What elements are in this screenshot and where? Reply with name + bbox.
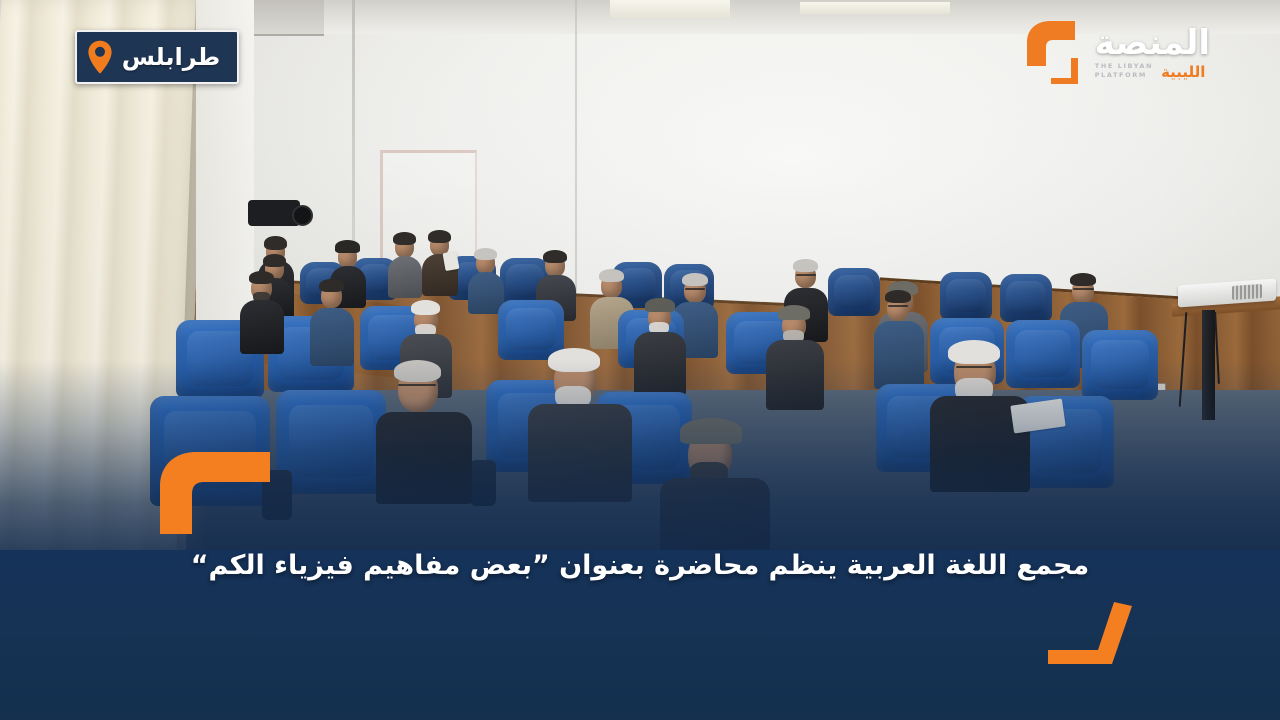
projector-stand-pole	[1202, 310, 1215, 420]
hair	[682, 273, 708, 286]
ceiling-light	[610, 0, 730, 18]
chair-armrest	[470, 460, 496, 506]
flat-cap	[645, 298, 675, 312]
logo-latin-line1: THE LIBYAN	[1095, 62, 1153, 70]
logo-arabic-main: المنصة	[1095, 26, 1210, 60]
orange-bracket-small-icon	[1048, 602, 1138, 664]
logo-hook-mark	[1023, 18, 1089, 88]
hair	[1070, 273, 1096, 286]
logo-latin-line2: PLATFORM	[1095, 71, 1147, 79]
glasses-icon	[888, 305, 908, 307]
logo-wordmark: المنصة الليبية THE LIBYAN PLATFORM	[1095, 26, 1210, 81]
headline-text: مجمع اللغة العربية ينظم محاضرة بعنوان ”ب…	[0, 548, 1280, 584]
attendee	[310, 278, 354, 364]
attendee-front	[528, 348, 632, 498]
hair	[793, 259, 818, 272]
attendee	[240, 268, 284, 352]
attendee-front	[930, 340, 1030, 490]
logo-arabic-sub: الليبية	[1161, 65, 1205, 81]
hair	[885, 290, 911, 303]
torso	[766, 340, 824, 410]
glasses-icon	[796, 274, 816, 276]
attendee	[422, 230, 458, 292]
torso	[388, 256, 422, 298]
glasses-icon	[1073, 288, 1094, 290]
glasses-icon	[956, 366, 992, 368]
hair	[394, 360, 441, 382]
chair	[1000, 274, 1052, 322]
attendee	[766, 302, 824, 406]
decoration-bracket-small	[1048, 602, 1138, 664]
attendee	[468, 246, 504, 308]
logo-latin-text: THE LIBYAN PLATFORM	[1095, 62, 1153, 81]
hair	[263, 254, 286, 267]
glasses-icon	[685, 288, 705, 290]
map-pin-icon	[87, 40, 113, 74]
chair	[940, 272, 992, 320]
attendee-front	[376, 360, 472, 500]
projector-vent	[1232, 284, 1262, 300]
torso	[376, 412, 472, 504]
attendee	[388, 232, 422, 294]
location-label: طرابلس	[113, 43, 237, 71]
hair	[428, 230, 451, 243]
torso	[634, 332, 686, 396]
news-card: طرابلس المنصة الليبية THE LIBYAN PLATFOR…	[0, 0, 1280, 720]
attendee	[634, 296, 686, 392]
camera-lens-icon	[292, 205, 313, 226]
hat	[335, 240, 360, 253]
location-badge[interactable]: طرابلس	[75, 30, 239, 84]
torso	[528, 404, 632, 502]
flat-cap	[778, 305, 810, 320]
attendee	[874, 288, 924, 388]
hair	[543, 250, 567, 263]
hair	[411, 300, 440, 315]
logo-subtitle-row: الليبية THE LIBYAN PLATFORM	[1095, 62, 1206, 81]
hair	[264, 236, 287, 250]
hair	[393, 232, 416, 245]
hair	[474, 248, 497, 260]
chair	[276, 390, 386, 494]
glasses-icon	[398, 384, 436, 386]
torso	[310, 308, 354, 366]
hair	[948, 340, 1000, 364]
handout-paper	[443, 251, 460, 271]
hair	[319, 279, 344, 292]
torso	[874, 321, 924, 389]
hair	[249, 271, 274, 284]
hair	[599, 269, 624, 282]
chair	[1082, 330, 1158, 400]
ceiling-light-secondary	[800, 2, 950, 14]
orange-bracket-large-icon	[160, 452, 270, 534]
flat-cap	[680, 418, 742, 444]
channel-logo[interactable]: المنصة الليبية THE LIBYAN PLATFORM	[1023, 18, 1210, 88]
hair	[548, 348, 600, 372]
decoration-bracket-large	[160, 452, 270, 534]
attendee-front	[660, 416, 770, 556]
torso	[240, 300, 284, 354]
orange-hook-icon	[1023, 18, 1089, 88]
